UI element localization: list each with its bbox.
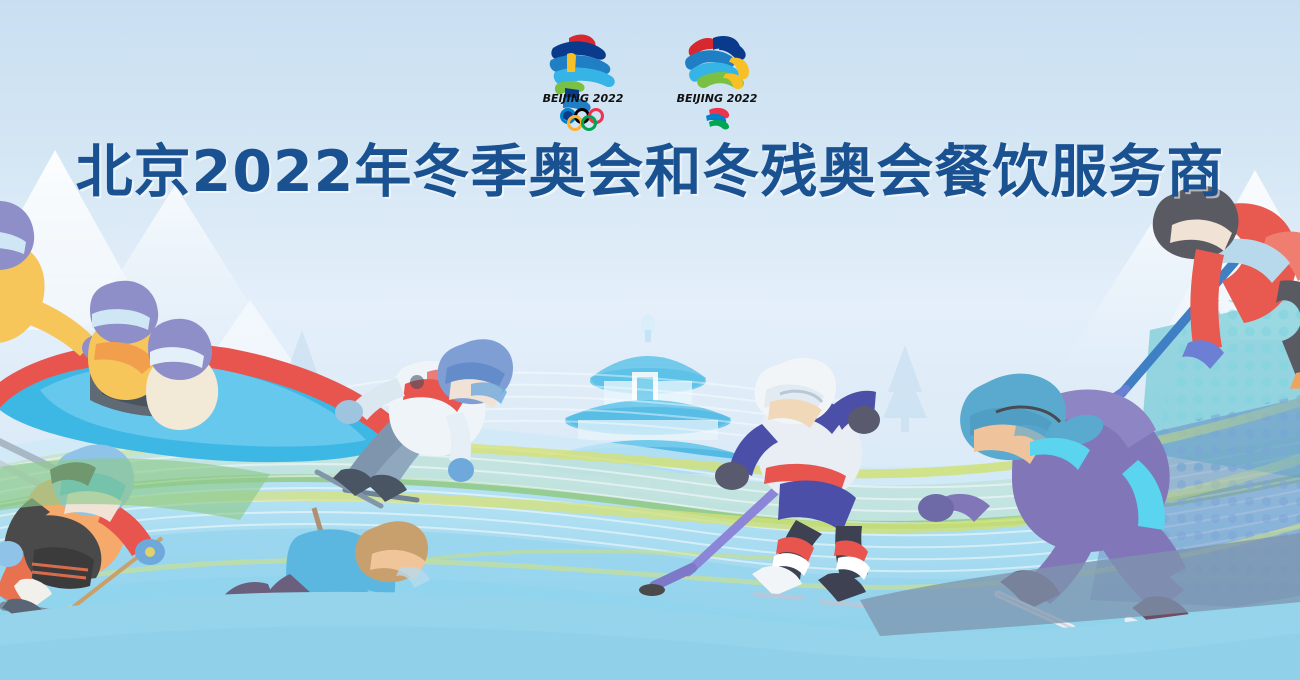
beijing-2022-paralympic-emblem: BEIJING 2022 bbox=[669, 28, 765, 132]
paralympic-wordmark: BEIJING 2022 bbox=[677, 92, 758, 105]
olympic-wordmark: BEIJING 2022 bbox=[543, 92, 624, 105]
emblem-row: BEIJING 2022 bbox=[0, 28, 1300, 132]
page-title: 北京2022年冬季奥会和冬残奥会餐饮服务商 bbox=[76, 142, 1225, 204]
paralympic-emblem-figure bbox=[685, 36, 749, 89]
page-title-wrap: 北京2022年冬季奥会和冬残奥会餐饮服务商 bbox=[0, 142, 1300, 204]
beijing-2022-catering-banner: BEIJING 2022 bbox=[0, 0, 1300, 680]
agitos-icon bbox=[706, 108, 729, 130]
beijing-2022-olympic-emblem: BEIJING 2022 bbox=[535, 28, 631, 132]
